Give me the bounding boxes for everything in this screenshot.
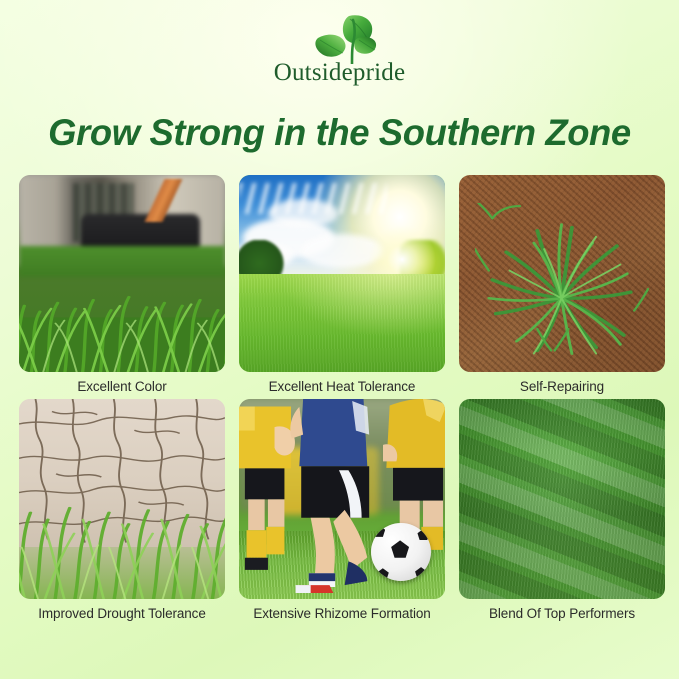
sprout-leaves-icon bbox=[292, 12, 388, 64]
soccer-ball-icon bbox=[371, 523, 431, 581]
feature-caption: Extensive Rhizome Formation bbox=[239, 599, 445, 621]
feature-caption: Improved Drought Tolerance bbox=[19, 599, 225, 621]
feature-card-improved-drought-tolerance: Improved Drought Tolerance bbox=[19, 399, 225, 621]
player-blue-center bbox=[288, 399, 379, 593]
closeup-green-grass-with-mower-image bbox=[19, 175, 225, 372]
feature-card-excellent-heat-tolerance: Excellent Heat Tolerance bbox=[239, 175, 445, 394]
youth-soccer-players-on-turf-image bbox=[239, 399, 445, 599]
brand-header: Outsidepride bbox=[0, 12, 679, 85]
grass-clump-on-bare-soil-image bbox=[459, 175, 665, 372]
feature-caption: Excellent Heat Tolerance bbox=[239, 372, 445, 394]
feature-caption: Excellent Color bbox=[19, 372, 225, 394]
feature-card-extensive-rhizome-formation: Extensive Rhizome Formation bbox=[239, 399, 445, 621]
brand-name: Outsidepride bbox=[274, 60, 406, 85]
page-title: Grow Strong in the Southern Zone bbox=[5, 112, 674, 154]
feature-grid: Excellent Color Excellent Heat Tolerance bbox=[19, 175, 660, 621]
feature-card-self-repairing: Self-Repairing bbox=[459, 175, 665, 394]
striped-mowed-lawn-image bbox=[459, 399, 665, 599]
infographic-page: Outsidepride Grow Strong in the Southern… bbox=[0, 0, 679, 679]
cracked-dry-earth-with-grass-image bbox=[19, 399, 225, 599]
feature-caption: Blend Of Top Performers bbox=[459, 599, 665, 621]
feature-card-blend-of-top-performers: Blend Of Top Performers bbox=[459, 399, 665, 621]
feature-caption: Self-Repairing bbox=[459, 372, 665, 394]
feature-card-excellent-color: Excellent Color bbox=[19, 175, 225, 394]
sunny-field-bright-sun-image bbox=[239, 175, 445, 372]
